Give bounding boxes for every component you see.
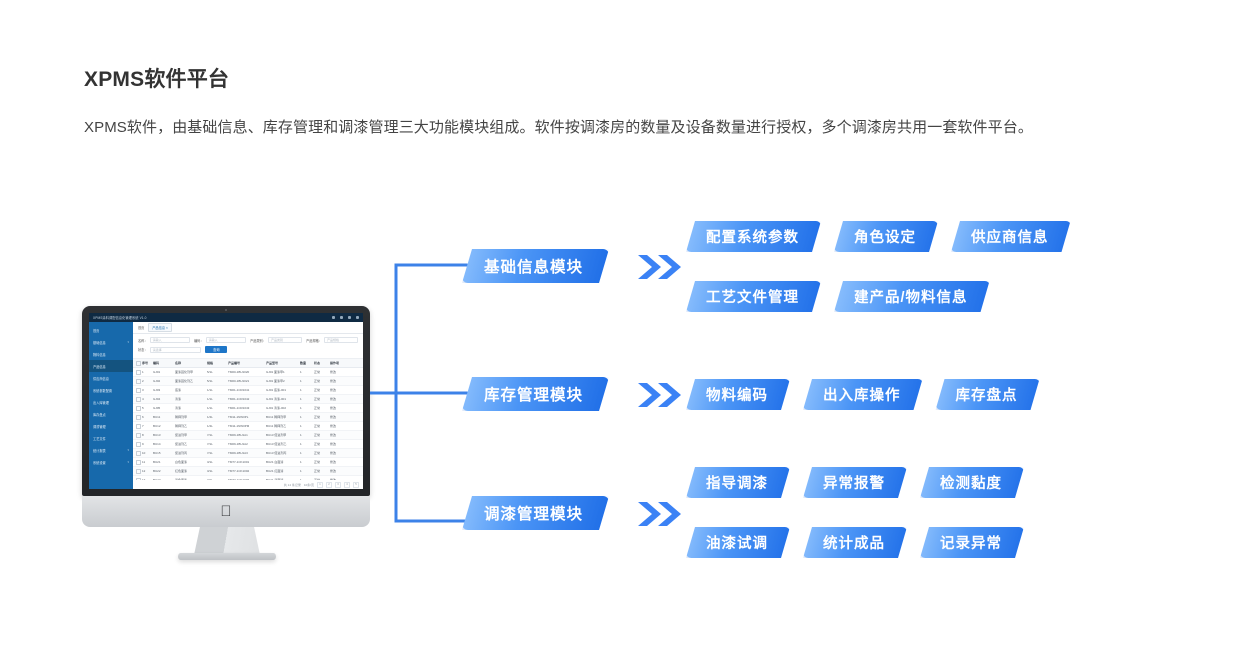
module-pill-basic-info[interactable]: 基础信息模块 bbox=[462, 249, 609, 283]
leaf-pill-basic-info-1-1[interactable]: 建产品/物料信息 bbox=[834, 281, 990, 312]
leaf-row-paint-mixing-2: 油漆试调统计成品记录异常 bbox=[686, 527, 1024, 558]
leaf-row-basic-info-2: 工艺文件管理建产品/物料信息 bbox=[686, 281, 990, 312]
leaf-pill-paint-mixing-0-1[interactable]: 异常报警 bbox=[803, 467, 907, 498]
double-chevron-right-icon-basic-info bbox=[636, 252, 686, 282]
module-pill-paint-mixing[interactable]: 调漆管理模块 bbox=[462, 496, 609, 530]
leaf-pill-paint-mixing-1-1[interactable]: 统计成品 bbox=[803, 527, 907, 558]
leaf-pill-inventory-0-0[interactable]: 物料编码 bbox=[686, 379, 790, 410]
leaf-pill-paint-mixing-0-0[interactable]: 指导调漆 bbox=[686, 467, 790, 498]
leaf-pill-basic-info-0-1[interactable]: 角色设定 bbox=[834, 221, 938, 252]
leaf-pill-paint-mixing-0-2[interactable]: 检测黏度 bbox=[920, 467, 1024, 498]
module-pill-inventory[interactable]: 库存管理模块 bbox=[462, 377, 609, 411]
leaf-pill-basic-info-0-0[interactable]: 配置系统参数 bbox=[686, 221, 821, 252]
leaf-pill-basic-info-1-0[interactable]: 工艺文件管理 bbox=[686, 281, 821, 312]
leaf-row-paint-mixing-1: 指导调漆异常报警检测黏度 bbox=[686, 467, 1024, 498]
module-flow-diagram: 基础信息模块 配置系统参数角色设定供应商信息 工艺文件管理建产品/物料信息 库存… bbox=[0, 0, 1260, 650]
leaf-pill-basic-info-0-2[interactable]: 供应商信息 bbox=[951, 221, 1071, 252]
leaf-row-basic-info-1: 配置系统参数角色设定供应商信息 bbox=[686, 221, 1071, 252]
leaf-pill-paint-mixing-1-2[interactable]: 记录异常 bbox=[920, 527, 1024, 558]
leaf-pill-paint-mixing-1-0[interactable]: 油漆试调 bbox=[686, 527, 790, 558]
leaf-pill-inventory-0-1[interactable]: 出入库操作 bbox=[803, 379, 923, 410]
double-chevron-right-icon-paint-mixing bbox=[636, 499, 686, 529]
double-chevron-right-icon-inventory bbox=[636, 380, 686, 410]
leaf-pill-inventory-0-2[interactable]: 库存盘点 bbox=[936, 379, 1040, 410]
leaf-row-inventory-1: 物料编码出入库操作库存盘点 bbox=[686, 379, 1040, 410]
